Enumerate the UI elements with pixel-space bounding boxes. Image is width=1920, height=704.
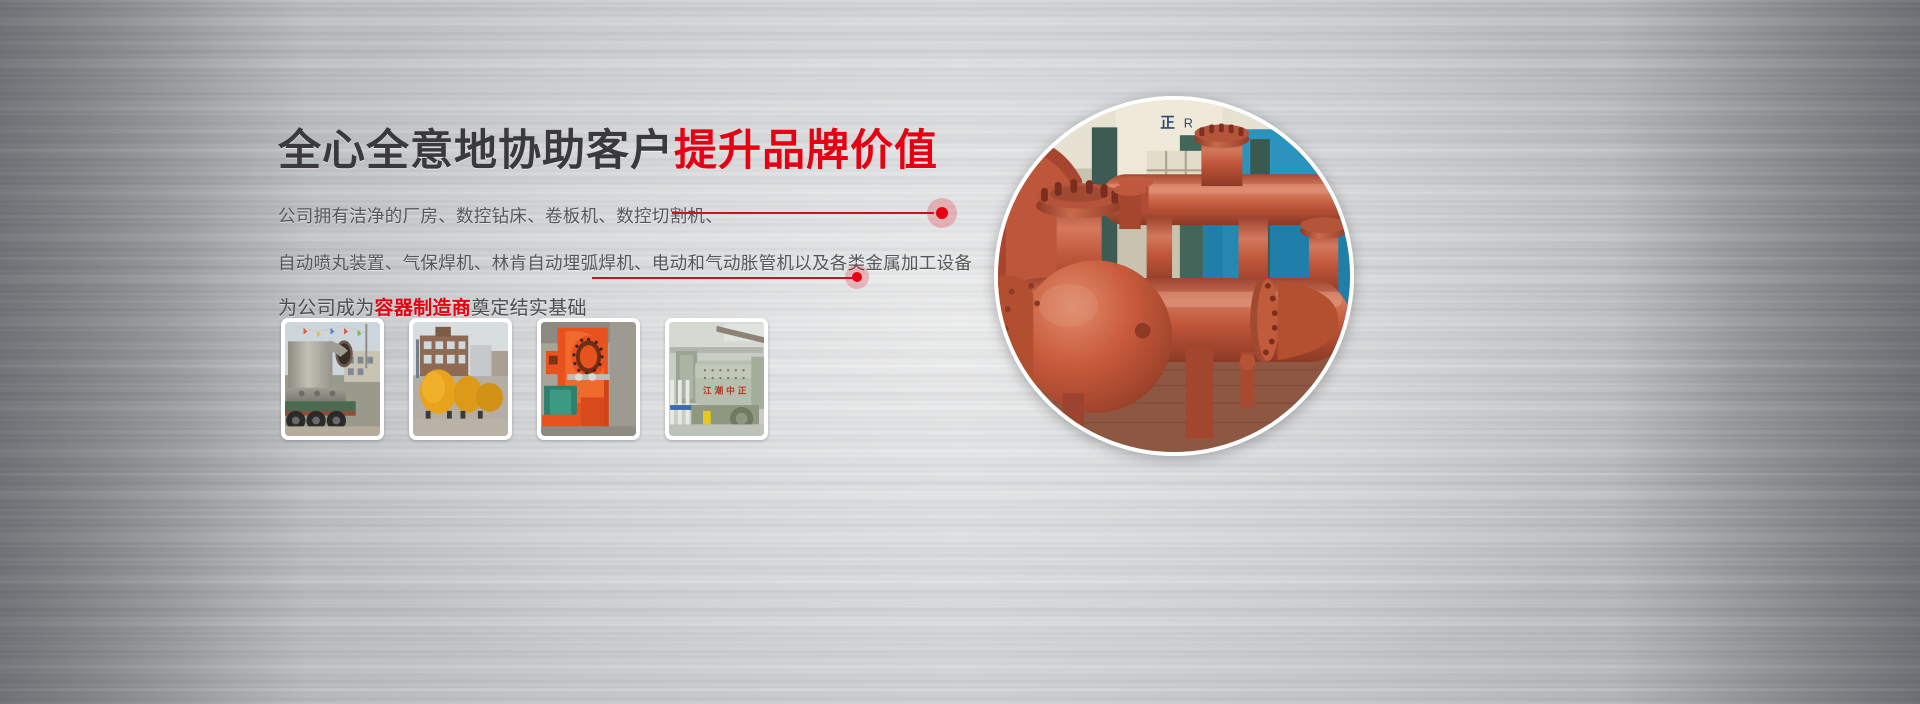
connector-dot-bottom <box>852 272 862 282</box>
hero-circular-photo: 正 R <box>994 96 1354 456</box>
svg-text:江: 江 <box>703 384 712 395</box>
subtext-line-2: 自动喷丸装置、气保焊机、林肯自动埋弧焊机、电动和气动胀管机以及各类金属加工设备 <box>278 255 978 273</box>
subtext-line-3-emphasis: 容器制造商 <box>375 298 472 319</box>
thumbnail-item[interactable]: 江潮 中正 <box>665 318 768 440</box>
svg-text:潮: 潮 <box>715 384 724 395</box>
heat-exchanger-pipes-photo: 正 R <box>998 100 1350 452</box>
subtext-line-3: 为公司成为容器制造商奠定结实基础 <box>278 299 978 318</box>
svg-text:正: 正 <box>738 385 747 395</box>
thumbnail-item[interactable] <box>409 318 512 440</box>
banner-subtext-group: 公司拥有洁净的厂房、数控钻床、卷板机、数控切割机、 自动喷丸装置、气保焊机、林肯… <box>278 208 978 318</box>
promotional-banner: 全心全意地协助客户提升品牌价值 公司拥有洁净的厂房、数控钻床、卷板机、数控切割机… <box>0 0 1920 704</box>
connector-rule-top <box>672 212 934 214</box>
headline-red-text: 提升品牌价值 <box>674 127 938 175</box>
yellow-storage-tanks-photo <box>413 322 508 436</box>
subtext-line-3-prefix: 为公司成为 <box>278 298 375 319</box>
subtext-line-3-suffix: 奠定结实基础 <box>471 298 587 319</box>
thumbnail-item[interactable] <box>281 318 384 440</box>
banner-text-column: 全心全意地协助客户提升品牌价值 公司拥有洁净的厂房、数控钻床、卷板机、数控切割机… <box>278 128 978 318</box>
banner-headline: 全心全意地协助客户提升品牌价值 <box>278 128 978 175</box>
pressure-vessel-on-trailer-photo <box>285 322 380 436</box>
connector-dot-top <box>936 207 948 219</box>
thumbnail-item[interactable] <box>537 318 640 440</box>
ball-mill-machine-photo: 江潮 中正 <box>669 322 764 436</box>
subtext-line-1: 公司拥有洁净的厂房、数控钻床、卷板机、数控切割机、 <box>278 208 978 226</box>
svg-text:R: R <box>1184 115 1193 130</box>
connector-rule-bottom <box>592 277 856 279</box>
headline-dark-text: 全心全意地协助客户 <box>278 127 674 175</box>
svg-text:正: 正 <box>1160 114 1175 131</box>
orange-crusher-machine-photo <box>541 322 636 436</box>
svg-text:中: 中 <box>726 384 735 395</box>
thumbnail-gallery: 江潮 中正 <box>281 318 768 440</box>
